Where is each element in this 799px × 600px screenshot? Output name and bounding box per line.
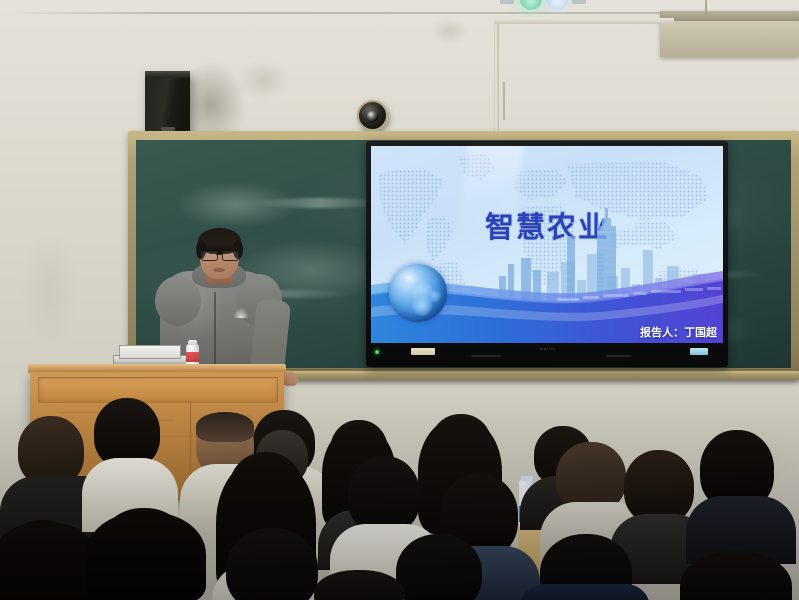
interactive-smartboard[interactable]: 智慧农业 [366, 141, 728, 367]
camera-lens [367, 111, 379, 122]
ceiling-soffit [660, 21, 799, 57]
presenter-hand [282, 372, 298, 386]
audience-hair [86, 512, 206, 600]
audience-head [226, 528, 318, 600]
ceiling-soffit [660, 11, 799, 21]
eyeglass-bridge [216, 254, 222, 255]
bottle-cap [188, 340, 197, 345]
eyeglass-lens [222, 251, 239, 261]
globe-landmass [428, 290, 441, 303]
power-led [375, 350, 379, 354]
warning-label [411, 348, 435, 355]
presenter-shoulder-left [155, 276, 201, 326]
slide-presenter-label: 报告人：丁国超 [640, 324, 717, 340]
audience-torso [520, 584, 650, 600]
eyeglass-lens [201, 251, 218, 261]
wall-stain [20, 230, 80, 350]
display-screen[interactable]: 智慧农业 [371, 146, 723, 343]
presenter-mouth [213, 268, 225, 272]
wall-stain [430, 18, 470, 44]
bezel-vent [471, 355, 501, 357]
audience-hair [196, 412, 254, 442]
dome-camera [357, 100, 388, 131]
chalk-smear [254, 198, 384, 208]
audience-head [624, 450, 694, 524]
audience-head [396, 534, 482, 600]
laptop-screen [119, 345, 181, 359]
camera-cable [503, 82, 505, 120]
north-face-logo [232, 306, 250, 318]
audience: 01 [0, 392, 799, 600]
spec-label [690, 348, 708, 355]
presenter-eyeglasses [201, 251, 239, 260]
wall-conduit [494, 18, 674, 24]
fixture-rod [705, 0, 707, 14]
wall-conduit [494, 18, 499, 138]
audience-hair [0, 522, 100, 600]
speaker-top-face [145, 71, 190, 78]
ceiling-light-fixture [500, 0, 514, 4]
wall-mounted-speaker [145, 71, 190, 137]
brand-mark: newline [538, 346, 555, 351]
globe-graphic [389, 264, 447, 322]
ceiling-light-fixture [572, 0, 586, 4]
lecture-hall-photo: 智慧农业 [0, 0, 799, 600]
bottle-cap [521, 476, 533, 481]
bottle-label [186, 352, 199, 362]
audience-head [348, 456, 420, 534]
bezel-vent [606, 355, 632, 357]
